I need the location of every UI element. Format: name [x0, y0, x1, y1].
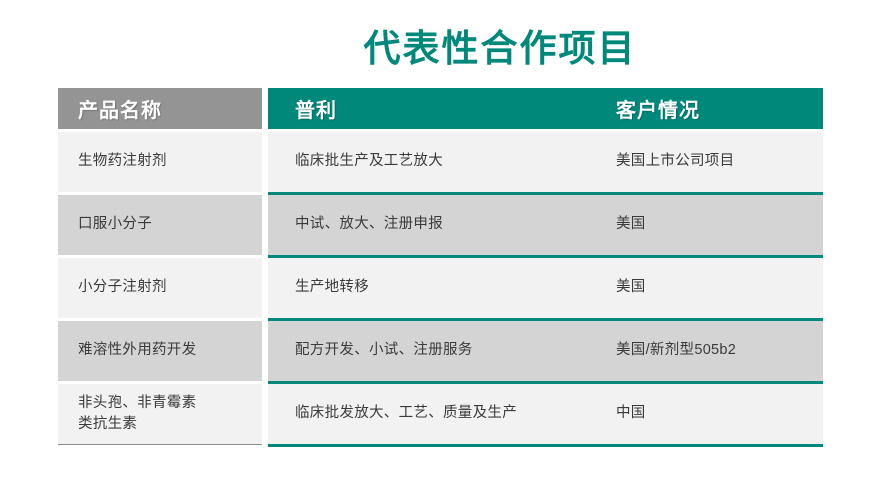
- cell-puli: 生产地转移: [268, 258, 608, 318]
- cell-puli-text: 中试、放大、注册申报: [295, 214, 443, 235]
- row-block-right: 配方开发、小试、注册服务 美国/新剂型505b2: [268, 321, 823, 381]
- page-title-text: 代表性合作项目: [364, 18, 637, 72]
- cell-customer: 中国: [608, 384, 823, 444]
- row-block-right: 临床批生产及工艺放大 美国上市公司项目: [268, 132, 823, 192]
- cell-customer-text: 美国/新剂型505b2: [616, 340, 736, 361]
- header-cell-puli: 普利: [268, 88, 608, 129]
- cell-puli: 中试、放大、注册申报: [268, 195, 608, 255]
- cell-product-text: 生物药注射剂: [78, 151, 167, 172]
- cell-puli-text: 生产地转移: [295, 277, 369, 298]
- row-block-right: 临床批发放大、工艺、质量及生产 中国: [268, 384, 823, 444]
- table-bottom-rule: [58, 444, 823, 447]
- cell-product-text: 非头孢、非青霉素 类抗生素: [78, 393, 196, 435]
- cell-product: 口服小分子: [58, 195, 262, 255]
- cell-product: 小分子注射剂: [58, 258, 262, 318]
- cell-product-text: 口服小分子: [78, 214, 152, 235]
- bottom-rule-right: [268, 444, 823, 447]
- row-block-right: 生产地转移 美国: [268, 258, 823, 318]
- cell-customer: 美国: [608, 258, 823, 318]
- cell-customer-text: 美国上市公司项目: [616, 151, 734, 172]
- partnership-table: 产品名称 普利 客户情况 生物药注射剂: [58, 88, 823, 447]
- header-label-product: 产品名称: [78, 94, 162, 123]
- bottom-rule-left: [58, 444, 262, 445]
- cell-product: 难溶性外用药开发: [58, 321, 262, 381]
- table-row[interactable]: 难溶性外用药开发 配方开发、小试、注册服务 美国/新剂型505b2: [58, 321, 823, 381]
- row-block-right: 中试、放大、注册申报 美国: [268, 195, 823, 255]
- cell-customer: 美国上市公司项目: [608, 132, 823, 192]
- table-row[interactable]: 生物药注射剂 临床批生产及工艺放大 美国上市公司项目: [58, 132, 823, 192]
- page-title: 代表性合作项目: [0, 18, 880, 72]
- header-label-customer: 客户情况: [616, 94, 700, 123]
- header-block-right: 普利 客户情况: [268, 88, 823, 129]
- cell-product-text: 小分子注射剂: [78, 277, 167, 298]
- slide-canvas: 代表性合作项目 产品名称 普利 客户情况: [0, 0, 880, 488]
- cell-puli-text: 配方开发、小试、注册服务: [295, 340, 473, 361]
- cell-puli: 临床批发放大、工艺、质量及生产: [268, 384, 608, 444]
- header-cell-customer: 客户情况: [608, 88, 823, 129]
- cell-product-text: 难溶性外用药开发: [78, 340, 196, 361]
- cell-puli: 配方开发、小试、注册服务: [268, 321, 608, 381]
- cell-puli-text: 临床批生产及工艺放大: [295, 151, 443, 172]
- table-row[interactable]: 口服小分子 中试、放大、注册申报 美国: [58, 195, 823, 255]
- cell-product: 非头孢、非青霉素 类抗生素: [58, 384, 262, 444]
- cell-puli-text: 临床批发放大、工艺、质量及生产: [295, 403, 517, 424]
- table-row[interactable]: 非头孢、非青霉素 类抗生素 临床批发放大、工艺、质量及生产 中国: [58, 384, 823, 444]
- cell-customer: 美国/新剂型505b2: [608, 321, 823, 381]
- cell-customer-text: 美国: [616, 214, 646, 235]
- cell-customer: 美国: [608, 195, 823, 255]
- header-label-puli: 普利: [295, 94, 337, 123]
- header-cell-product: 产品名称: [58, 88, 262, 129]
- cell-product: 生物药注射剂: [58, 132, 262, 192]
- cell-customer-text: 中国: [616, 403, 646, 424]
- table-header-row: 产品名称 普利 客户情况: [58, 88, 823, 129]
- cell-customer-text: 美国: [616, 277, 646, 298]
- table-row[interactable]: 小分子注射剂 生产地转移 美国: [58, 258, 823, 318]
- cell-puli: 临床批生产及工艺放大: [268, 132, 608, 192]
